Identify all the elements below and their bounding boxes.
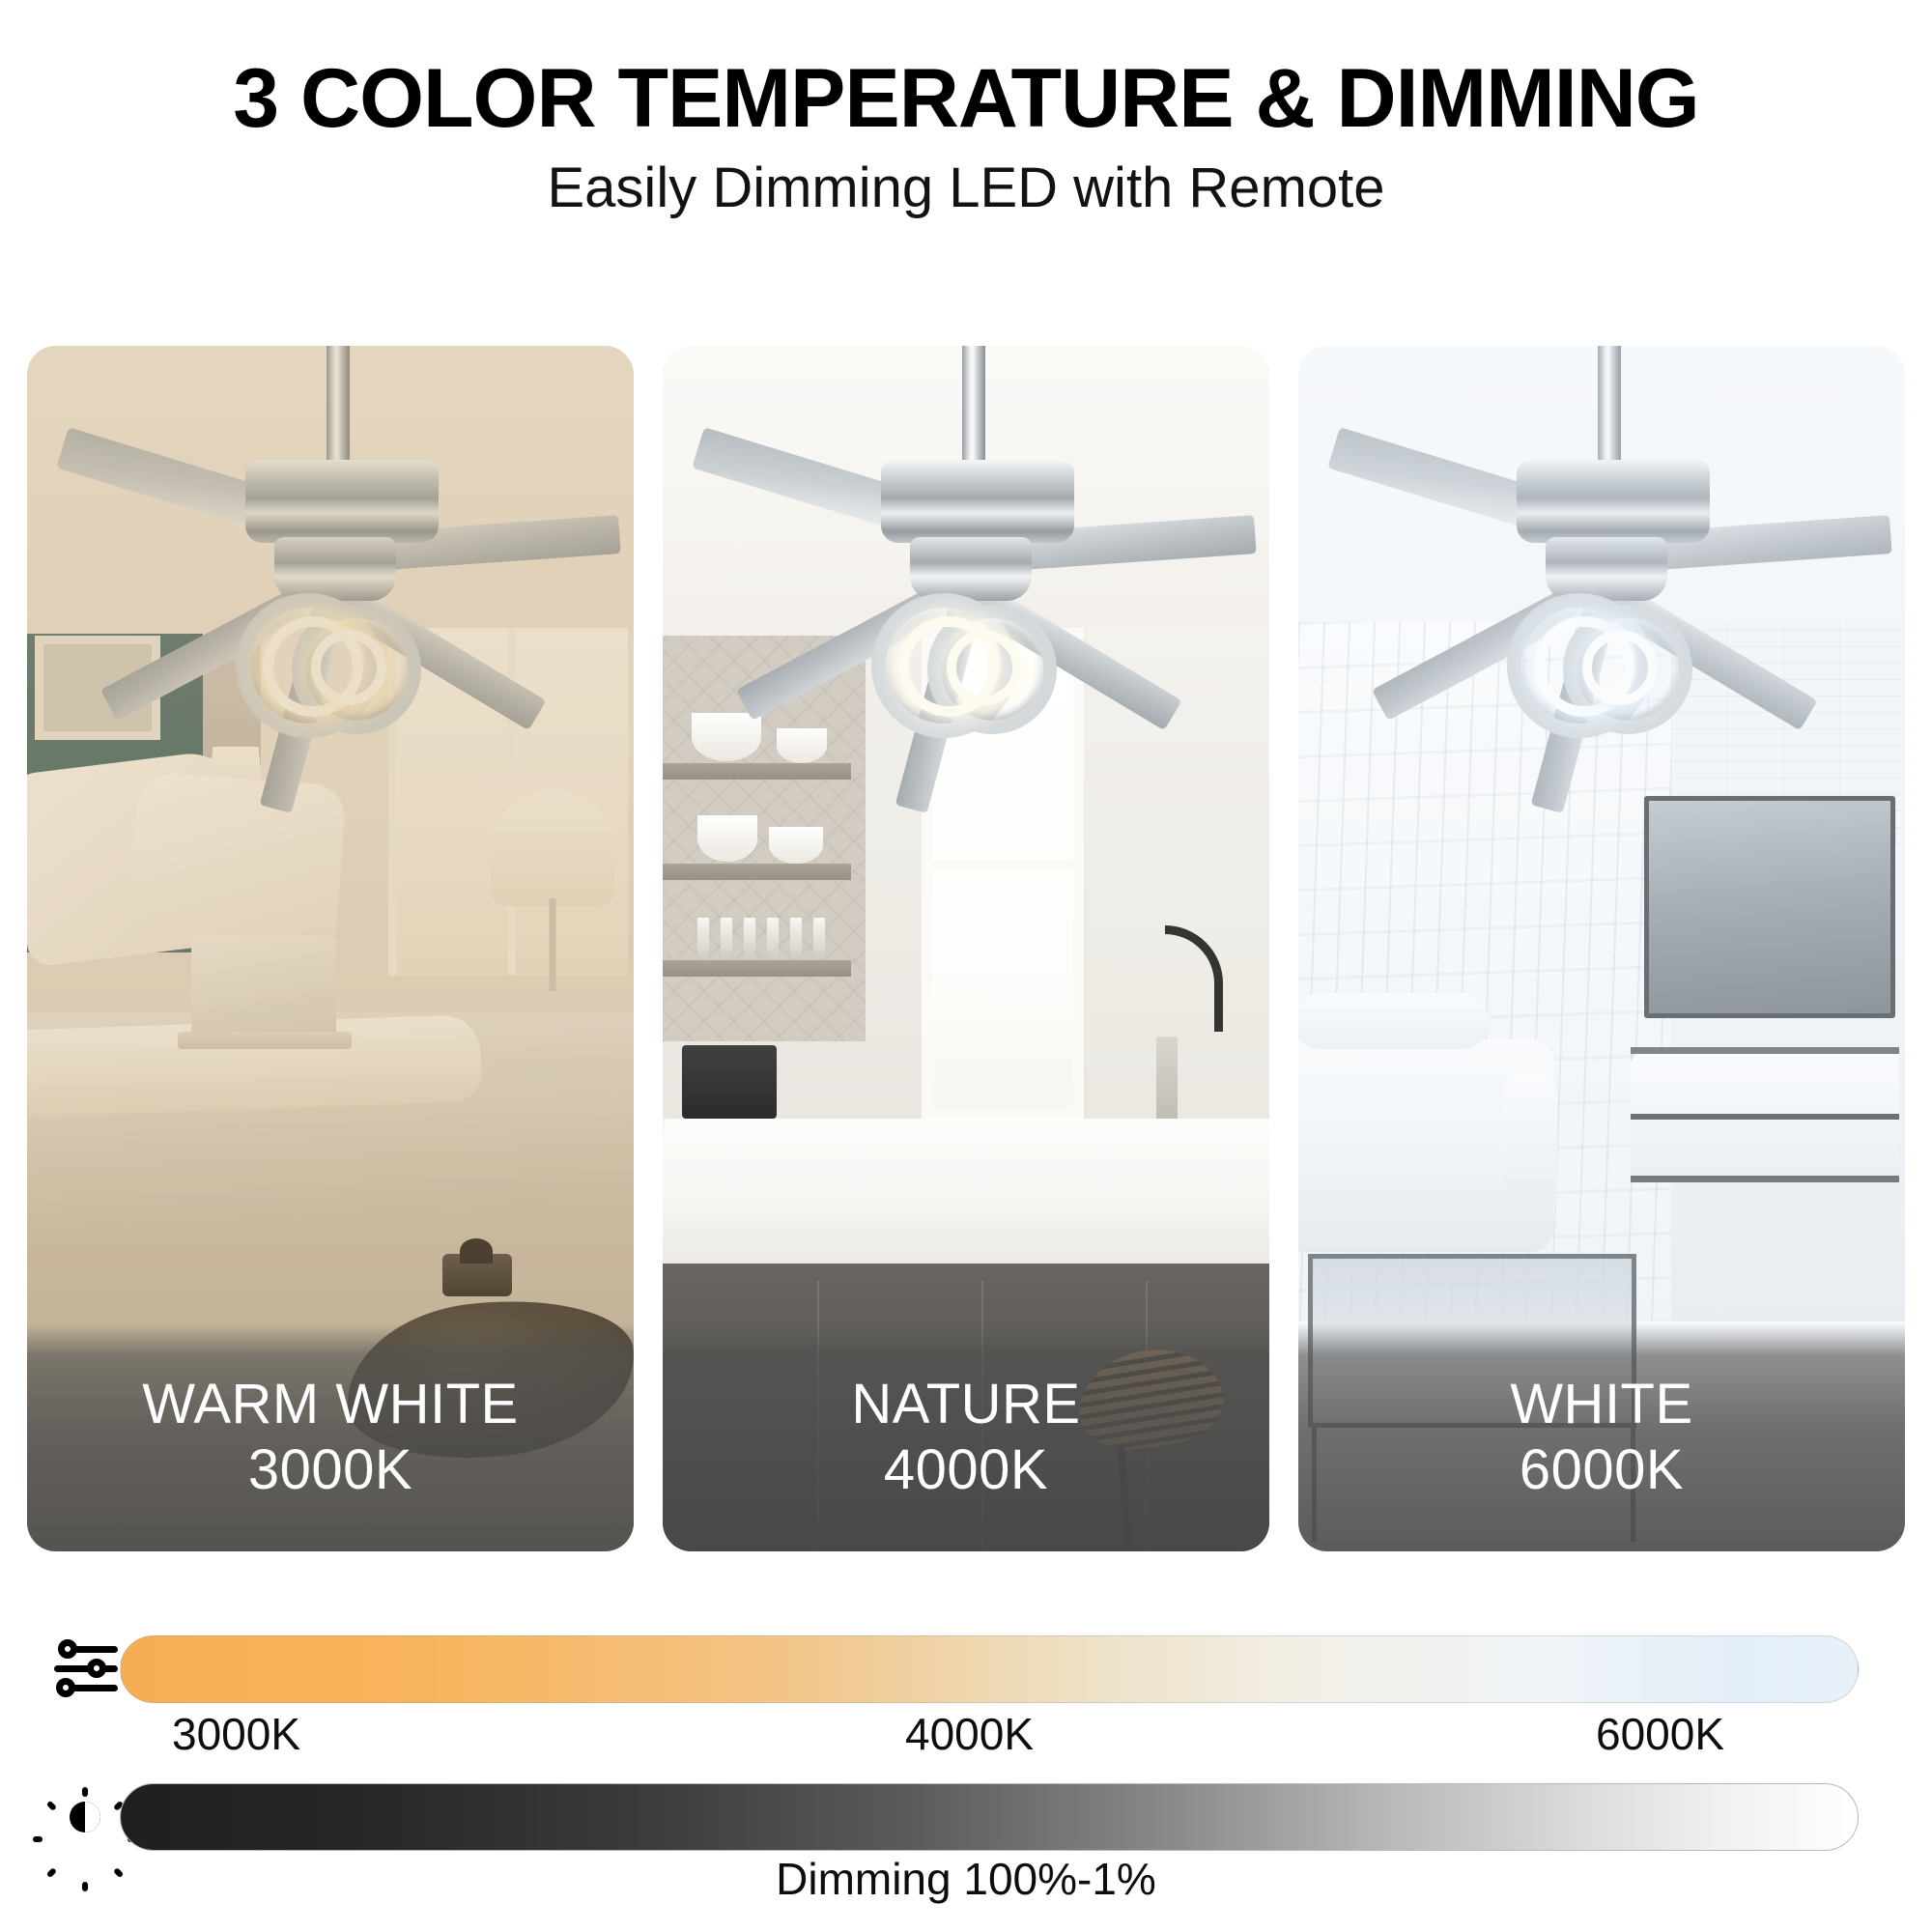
bedroom-pillow bbox=[128, 772, 347, 955]
kitchen-wine-glass bbox=[813, 918, 825, 958]
kitchen-open-shelf bbox=[663, 864, 851, 880]
kitchen-wine-glass bbox=[721, 918, 732, 958]
dimming-slider-row[interactable] bbox=[50, 1782, 1859, 1852]
dimming-range-label: Dimming 100%-1% bbox=[0, 1853, 1932, 1905]
cct-tick-6000k: 6000K bbox=[1596, 1708, 1724, 1760]
kitchen-wine-glass bbox=[744, 918, 755, 958]
cct-slider-row[interactable] bbox=[50, 1634, 1859, 1704]
card-nature[interactable]: NATURE 4000K bbox=[663, 346, 1269, 1551]
dimming-gradient-bar[interactable] bbox=[120, 1783, 1859, 1851]
living-room-television bbox=[1644, 796, 1895, 1018]
cct-tick-labels: 3000K 4000K 6000K bbox=[50, 1708, 1876, 1768]
kitchen-right-wall bbox=[1088, 622, 1269, 1134]
card-caption-nature: NATURE 4000K bbox=[663, 1323, 1269, 1551]
card-white[interactable]: WHITE 6000K bbox=[1298, 346, 1905, 1551]
bedroom-camera bbox=[442, 1254, 512, 1296]
kitchen-ceiling bbox=[663, 346, 1269, 626]
cct-tick-4000k: 4000K bbox=[905, 1708, 1034, 1760]
header: 3 COLOR TEMPERATURE & DIMMING Easily Dim… bbox=[0, 0, 1932, 218]
kitchen-coffee-machine bbox=[682, 1045, 777, 1119]
kitchen-bowl bbox=[769, 827, 823, 864]
kitchen-wine-glass bbox=[767, 918, 779, 958]
caption-kelvin: 3000K bbox=[248, 1439, 412, 1501]
bedroom-chair bbox=[491, 790, 614, 906]
caption-name: WARM WHITE bbox=[142, 1374, 518, 1435]
cct-tick-3000k: 3000K bbox=[172, 1708, 300, 1760]
bedroom-laptop bbox=[191, 935, 336, 1036]
bedroom-wall-mirror bbox=[35, 636, 160, 740]
caption-kelvin: 6000K bbox=[1520, 1439, 1684, 1501]
card-warm-white[interactable]: WARM WHITE 3000K bbox=[27, 346, 634, 1551]
caption-name: NATURE bbox=[851, 1374, 1080, 1435]
kitchen-tile-backsplash bbox=[663, 636, 866, 1041]
caption-name: WHITE bbox=[1510, 1374, 1692, 1435]
kitchen-wine-glass bbox=[790, 918, 802, 958]
living-room-marble-media-console bbox=[1631, 1047, 1899, 1182]
card-caption-warm-white: WARM WHITE 3000K bbox=[27, 1323, 634, 1551]
kitchen-bowl bbox=[697, 815, 757, 862]
kitchen-open-shelf bbox=[663, 763, 851, 780]
kitchen-wine-glass bbox=[697, 918, 709, 958]
kitchen-bowl bbox=[777, 728, 827, 763]
color-temperature-gradient-bar[interactable] bbox=[120, 1635, 1859, 1703]
page-title: 3 COLOR TEMPERATURE & DIMMING bbox=[0, 56, 1932, 142]
color-temperature-card-row: WARM WHITE 3000K bbox=[27, 346, 1905, 1551]
kitchen-window bbox=[922, 628, 1084, 1121]
living-room-sofa bbox=[1298, 1039, 1553, 1252]
sliders-icon bbox=[50, 1634, 120, 1704]
kitchen-bowl bbox=[692, 713, 761, 761]
brightness-icon bbox=[50, 1782, 120, 1852]
kitchen-marble-countertop bbox=[663, 1119, 1269, 1283]
card-caption-white: WHITE 6000K bbox=[1298, 1323, 1905, 1551]
caption-kelvin: 4000K bbox=[884, 1439, 1048, 1501]
bedroom-ceiling bbox=[27, 346, 634, 636]
kitchen-open-shelf bbox=[663, 960, 851, 977]
page-subtitle: Easily Dimming LED with Remote bbox=[0, 159, 1932, 218]
